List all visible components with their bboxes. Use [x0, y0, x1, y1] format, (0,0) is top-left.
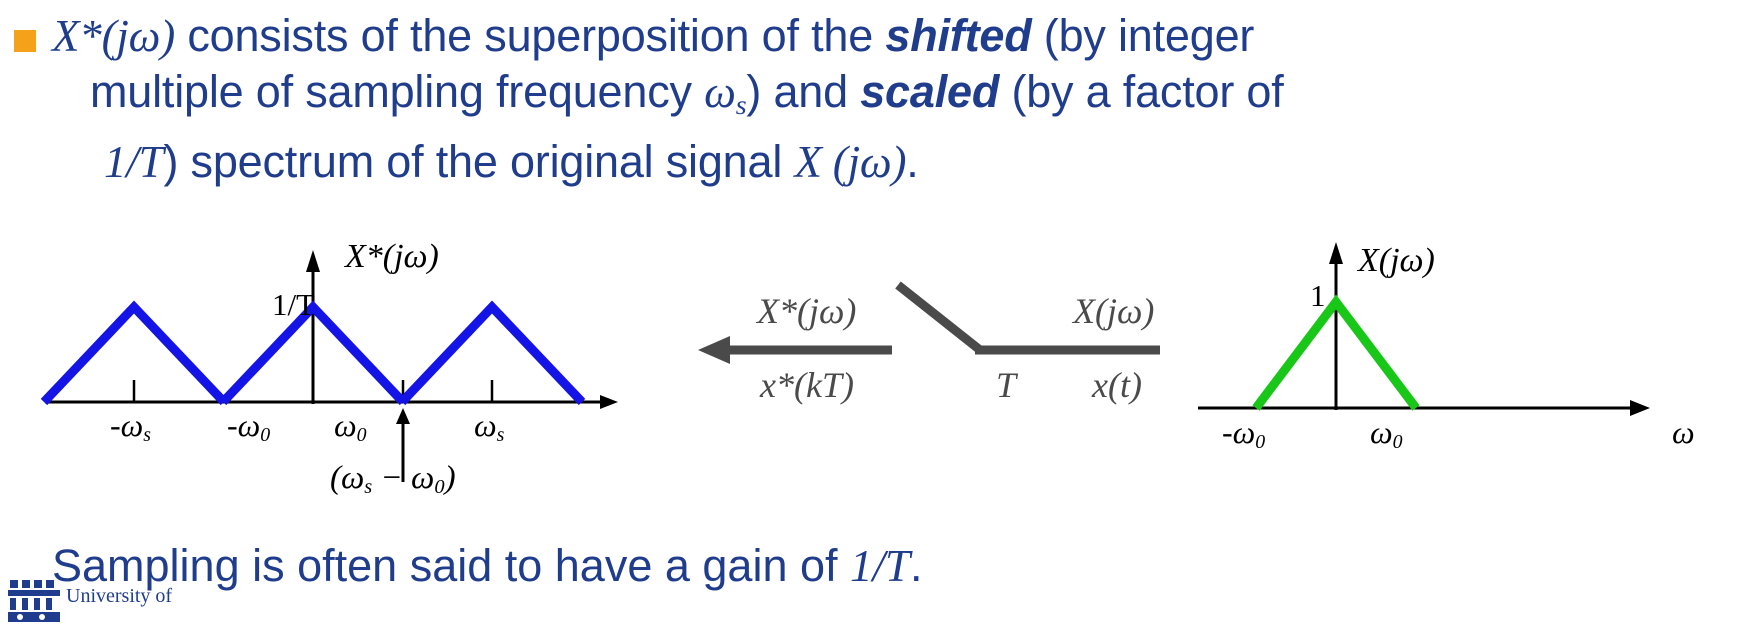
bullet-text: X*(jω) consists of the superposition of …: [14, 8, 1744, 190]
bullet-line3-text-a: ) spectrum of the original signal: [163, 136, 794, 187]
output-arrow-head-icon: [698, 336, 730, 364]
x-axis-label-omega: ω: [1672, 414, 1695, 451]
xtick-label-minus-omega-s: -ωs: [110, 407, 151, 447]
bullet-line2-text-c: (by a factor of: [999, 66, 1283, 117]
y-axis-arrowhead-icon: [306, 250, 320, 272]
annotation-open-omega-s: (ω: [330, 460, 364, 496]
xtick-label-minus-omega-0: -ω0: [227, 407, 270, 447]
xtick-label-minus-omega-0-right-main: -ω: [1222, 414, 1255, 450]
xtick-label-omega-s: ωs: [474, 407, 504, 447]
xtick-label-minus-omega-s-sub: s: [143, 424, 151, 446]
bullet-line3-period: .: [906, 136, 918, 187]
bullet-line3-fraction: 1/T: [104, 137, 163, 187]
bullet-line1-text-b: (by integer: [1031, 10, 1254, 61]
bullet-line1-formula: X*(jω): [52, 11, 175, 61]
label-input-signal: x(t): [1092, 364, 1142, 406]
bullet-line2-omega-subscript: s: [736, 90, 747, 121]
xtick-label-minus-omega-0-main: -ω: [227, 407, 260, 443]
label-input-spectrum: X(jω): [1073, 290, 1154, 332]
xtick-label-minus-omega-s-main: -ω: [110, 407, 143, 443]
xtick-label-omega-s-sub: s: [497, 424, 505, 446]
annotation-close-paren: ): [445, 460, 456, 496]
bullet-line1-emphasis-shifted: shifted: [885, 10, 1031, 61]
bullet-line3-formula: X (jω): [794, 137, 906, 187]
y-axis-arrowhead-icon: [1329, 242, 1343, 264]
xtick-label-omega-0-sub: 0: [357, 424, 367, 446]
sampled-spectrum-title: X*(jω): [345, 238, 439, 276]
sampled-spectrum-chart: [0, 232, 640, 482]
xtick-label-omega-s-main: ω: [474, 407, 497, 443]
bullet-line2-text-b: ) and: [746, 66, 860, 117]
annotation-omega-s-minus-omega-0: (ωs − ω0): [330, 460, 456, 499]
xtick-label-minus-omega-0-right-sub: 0: [1255, 431, 1265, 453]
label-output-spectrum: X*(jω): [757, 290, 856, 332]
original-spectrum-peak-label: 1: [1310, 278, 1326, 314]
closing-statement-period: .: [910, 540, 923, 591]
university-logo: University of: [8, 578, 188, 644]
university-logo-name: University of: [66, 586, 172, 607]
xtick-label-minus-omega-0-right: -ω0: [1222, 414, 1265, 454]
label-output-sequence: x*(kT): [760, 364, 854, 406]
xtick-label-omega-0-right: ω0: [1370, 414, 1403, 454]
castle-crest-icon: [8, 578, 62, 624]
bullet-line2-omega: ω: [704, 67, 736, 117]
bullet-paragraph: X*(jω) consists of the superposition of …: [14, 8, 1744, 190]
xtick-label-omega-0: ω0: [334, 407, 367, 447]
x-axis-arrowhead-icon: [1630, 400, 1650, 416]
xtick-label-minus-omega-0-sub: 0: [260, 424, 270, 446]
bullet-line2-emphasis-scaled: scaled: [860, 66, 999, 117]
xtick-label-omega-0-right-sub: 0: [1393, 431, 1403, 453]
closing-statement-gain: 1/T: [850, 541, 910, 591]
x-axis-arrowhead-icon: [600, 395, 618, 409]
xtick-label-omega-0-right-main: ω: [1370, 414, 1393, 450]
slide-canvas: X*(jω) consists of the superposition of …: [0, 0, 1750, 644]
sampled-spectrum-peak-label: 1/T: [272, 287, 315, 323]
annotation-pointer-arrowhead-icon: [396, 408, 410, 424]
sampling-figure: X*(jω) 1/T -ωs -ω0 ω0 ωs (ωs − ω0) X*(jω…: [0, 232, 1750, 522]
label-sampling-period: T: [996, 364, 1016, 406]
bullet-line1-text-a: consists of the superposition of the: [175, 10, 885, 61]
xtick-label-omega-0-main: ω: [334, 407, 357, 443]
original-spectrum-title: X(jω): [1358, 242, 1435, 280]
bullet-line3: 1/T) spectrum of the original signal X (…: [52, 134, 1744, 190]
bullet-marker-icon: [14, 30, 36, 52]
bullet-line2: multiple of sampling frequency ωs) and s…: [52, 64, 1744, 134]
annotation-sub-0: 0: [434, 476, 444, 498]
bullet-line2-text-a: multiple of sampling frequency: [90, 66, 704, 117]
annotation-minus: −: [372, 460, 411, 496]
switch-blade: [898, 285, 980, 350]
original-spectrum-chart: [1190, 232, 1730, 462]
annotation-omega-0: ω: [411, 460, 434, 496]
